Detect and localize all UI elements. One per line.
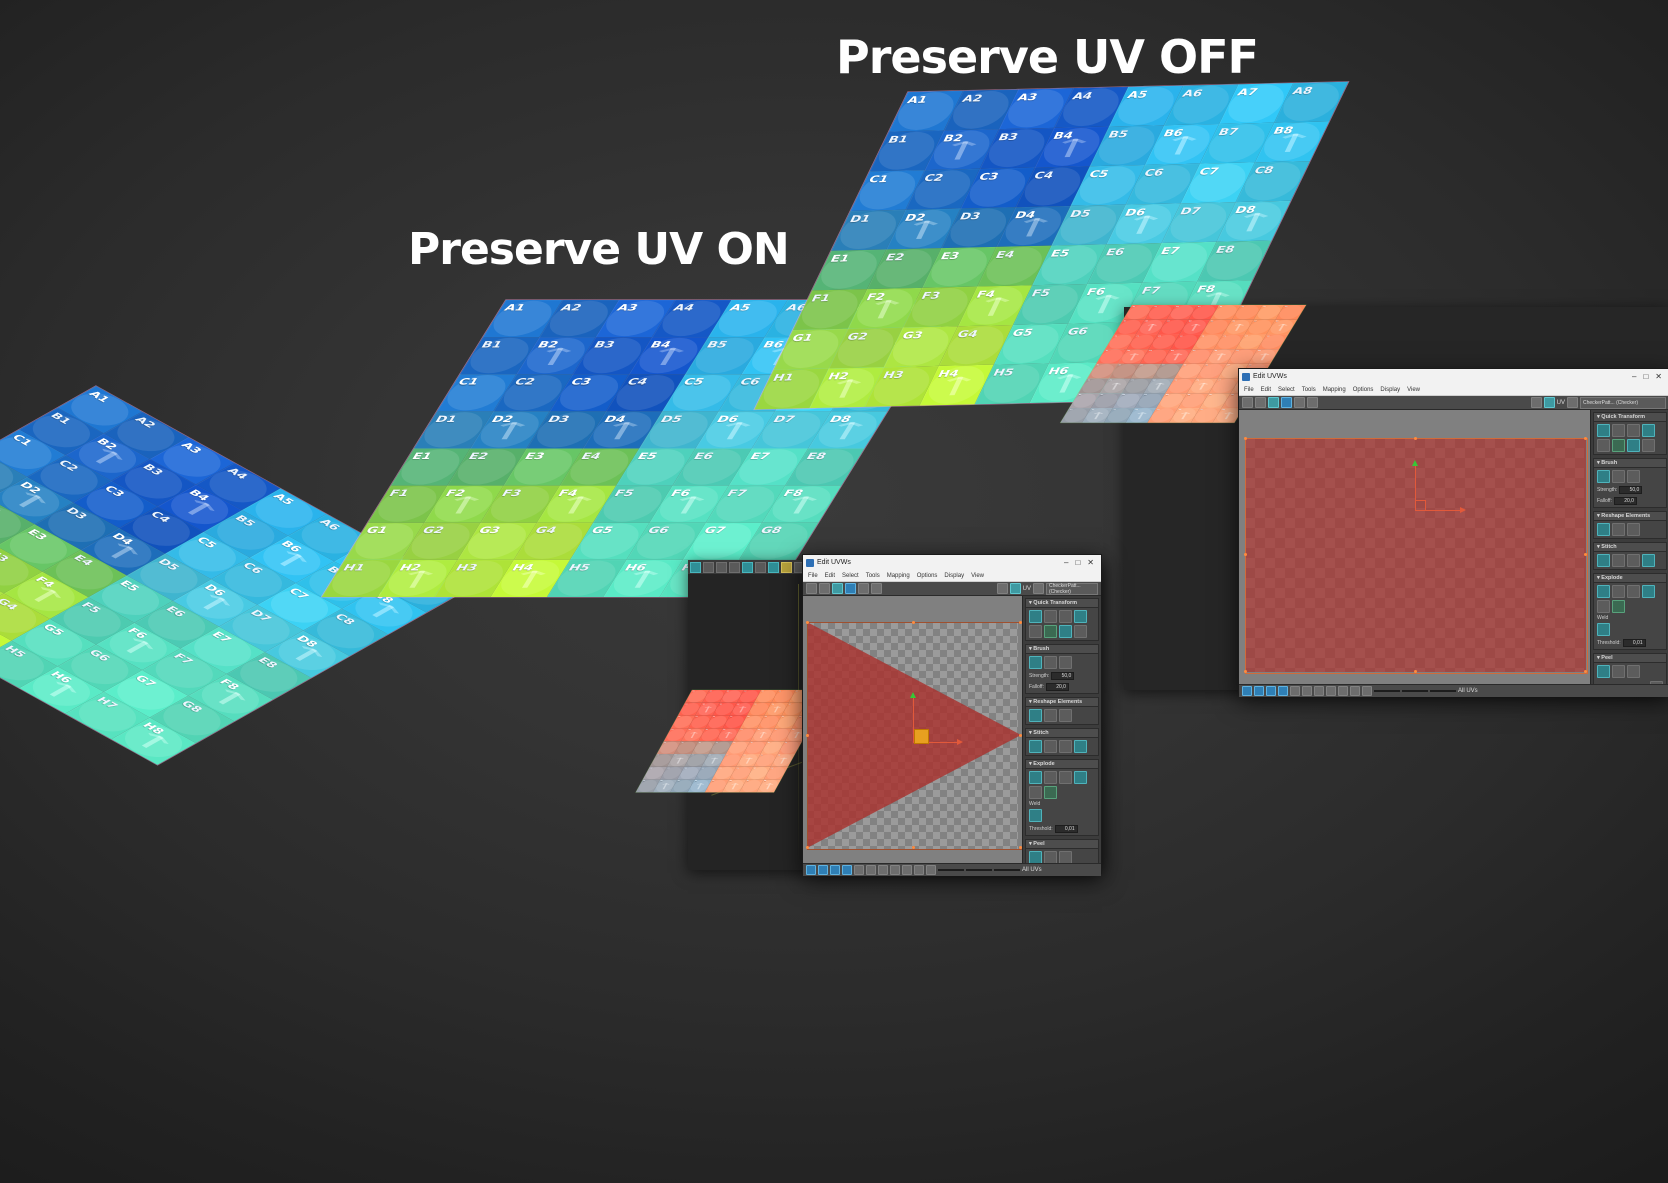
field-row: Threshold:0,01	[1597, 639, 1663, 647]
align-v-icon[interactable]	[1612, 424, 1625, 437]
weld-icon[interactable]	[1597, 623, 1610, 636]
gizmo-y-arrow-icon	[1412, 460, 1418, 466]
menu-edit[interactable]: Edit	[825, 573, 835, 579]
peel-mode-select[interactable]: Unfold▾	[1597, 684, 1648, 685]
rotate-ccw-icon[interactable]	[1029, 625, 1042, 638]
menu-view[interactable]: View	[1407, 387, 1420, 393]
rotate-ccw-icon[interactable]	[1597, 439, 1610, 452]
uv-canvas-front[interactable]	[803, 596, 1022, 863]
window-title: Edit UVWs	[817, 559, 851, 566]
command-panel-back[interactable]: ▾ Quick Transform▾ BrushStrength:50,0Fal…	[1590, 410, 1668, 684]
lock-icon[interactable]	[854, 865, 864, 875]
rotate-icon[interactable]	[716, 562, 727, 573]
command-panel-front[interactable]: ▾ Quick Transform▾ BrushStrength:50,0Fal…	[1022, 596, 1101, 863]
uvw-body-front: ▾ Quick Transform▾ BrushStrength:50,0Fal…	[803, 596, 1101, 863]
peel-mode-row: Unfold▾	[1597, 681, 1663, 684]
move-icon[interactable]	[1242, 397, 1253, 408]
menu-select[interactable]: Select	[842, 573, 859, 579]
gizmo-y-axis[interactable]	[1415, 465, 1416, 510]
move-icon[interactable]	[806, 583, 817, 594]
menu-mapping[interactable]: Mapping	[1323, 387, 1346, 393]
map-swatch-icon[interactable]	[1033, 583, 1044, 594]
break-face-icon[interactable]	[1059, 771, 1072, 784]
maximize-icon[interactable]: □	[1075, 559, 1080, 567]
relax-brush-icon[interactable]	[1612, 470, 1625, 483]
element-icon[interactable]	[1278, 686, 1288, 696]
uv-vertex[interactable]	[1244, 553, 1247, 556]
stitch-custom-icon[interactable]	[1074, 740, 1087, 753]
explode-all-icon[interactable]	[1044, 786, 1057, 799]
weld-icon[interactable]	[1029, 809, 1042, 822]
space-h-icon[interactable]	[1059, 610, 1072, 623]
field-label: Threshold:	[1029, 826, 1053, 832]
rollout-header[interactable]: ▾ Explode	[1594, 574, 1666, 583]
quick-peel-icon[interactable]	[1612, 665, 1625, 678]
rollout-brush[interactable]: ▾ BrushStrength:50,0Falloff:20,0	[1593, 458, 1667, 508]
paint-select-icon[interactable]	[1029, 656, 1042, 669]
field-value[interactable]: 50,0	[1619, 486, 1642, 494]
relax-icon[interactable]	[1059, 709, 1072, 722]
rollout-body: WeldThreshold:0,01	[1026, 769, 1098, 835]
minimize-icon[interactable]: –	[1064, 559, 1068, 567]
gizmo-xy-plane-handle[interactable]	[914, 729, 929, 744]
rotate-cw-icon[interactable]	[1612, 439, 1625, 452]
relax-brush-icon[interactable]	[1044, 656, 1057, 669]
rollout-stitch[interactable]: ▾ Stitch	[1593, 542, 1667, 570]
face-icon[interactable]	[830, 865, 840, 875]
rollout-body	[1026, 707, 1098, 724]
pan-icon[interactable]	[902, 865, 912, 875]
uv-channel-label: UV	[1557, 400, 1565, 406]
zoom-icon[interactable]	[1326, 686, 1336, 696]
uv-canvas-back[interactable]	[1239, 410, 1590, 684]
uv-tile-border	[1245, 438, 1588, 674]
uv-vertex[interactable]	[1414, 437, 1417, 440]
align-v-icon[interactable]	[1044, 610, 1057, 623]
uv-vertex[interactable]	[806, 734, 809, 737]
uv-grid-icon[interactable]	[997, 583, 1008, 594]
toolbar-right-group[interactable]: UV CheckerPatt... (Checker)	[1531, 397, 1666, 409]
rollout-brush[interactable]: ▾ BrushStrength:50,0Falloff:20,0	[1025, 644, 1099, 694]
titlebar-front[interactable]: Edit UVWs – □ ✕	[803, 555, 1101, 570]
menubar-back[interactable]: File Edit Select Tools Mapping Options D…	[1239, 384, 1668, 396]
stitch-vert-icon[interactable]	[1627, 554, 1640, 567]
flip-h-icon[interactable]	[1627, 439, 1640, 452]
title-preserve-uv-off: Preserve UV OFF	[836, 30, 1258, 84]
menu-select[interactable]: Select	[1278, 387, 1295, 393]
status-field[interactable]	[1374, 690, 1400, 692]
flip-v-icon[interactable]	[1074, 625, 1087, 638]
gizmo-xy-square[interactable]	[1425, 500, 1426, 510]
rollout-body	[1026, 608, 1098, 640]
detach-icon[interactable]	[1642, 585, 1655, 598]
vertex-icon[interactable]	[1242, 686, 1252, 696]
rollout-header[interactable]: ▾ Quick Transform	[1594, 413, 1666, 422]
menu-file[interactable]: File	[1244, 387, 1254, 393]
zoom-region-icon[interactable]	[1362, 686, 1372, 696]
uv-grid-icon[interactable]	[1531, 397, 1542, 408]
explode-icon[interactable]	[1029, 786, 1042, 799]
show-map-icon[interactable]	[871, 583, 882, 594]
field-label: Threshold:	[1597, 640, 1621, 646]
space-h-icon[interactable]	[1627, 424, 1640, 437]
rotate-cw-icon[interactable]	[1044, 625, 1057, 638]
field-label: Strength:	[1597, 487, 1617, 493]
rollout-header[interactable]: ▾ Brush	[1026, 645, 1098, 654]
scale-icon[interactable]	[729, 562, 740, 573]
field-value[interactable]: 0,01	[1055, 825, 1078, 833]
rollout-peel[interactable]: ▾ PeelUnfold▾DetachPack	[1025, 839, 1099, 863]
pan-icon[interactable]	[1338, 686, 1348, 696]
status-field[interactable]	[938, 869, 964, 871]
rollout-header[interactable]: ▾ Peel	[1594, 654, 1666, 663]
peel-settings-icon[interactable]	[1650, 681, 1663, 684]
status-bar-back[interactable]: All UVs	[1239, 684, 1668, 697]
zoom-extents-icon[interactable]	[914, 865, 924, 875]
title-preserve-uv-on: Preserve UV ON	[408, 224, 789, 275]
explode-all-icon[interactable]	[1612, 600, 1625, 613]
uv-vertex[interactable]	[1019, 734, 1022, 737]
edit-uvws-window-back[interactable]: Edit UVWs – □ ✕ File Edit Select Tools M…	[1238, 368, 1668, 695]
uv-vertex[interactable]	[1584, 437, 1587, 440]
field-row: Strength:50,0	[1597, 486, 1663, 494]
break-edge-icon[interactable]	[1044, 771, 1057, 784]
paint-select-icon[interactable]	[1597, 470, 1610, 483]
field-row: Falloff:20,0	[1597, 497, 1663, 505]
toolbar-back[interactable]: UV CheckerPatt... (Checker)	[1239, 396, 1668, 410]
align-h-icon[interactable]	[1029, 610, 1042, 623]
mirror-icon[interactable]	[858, 583, 869, 594]
peel-mode-icon[interactable]	[1627, 665, 1640, 678]
explode-icon[interactable]	[1597, 600, 1610, 613]
material-slot[interactable]: CheckerPatt... (Checker)	[1046, 583, 1098, 595]
status-field[interactable]	[966, 869, 992, 871]
gizmo-x-axis[interactable]	[1415, 510, 1460, 511]
uv-channel-label: UV	[1023, 586, 1031, 592]
stitch-icon[interactable]	[1029, 740, 1042, 753]
window-controls[interactable]: – □ ✕	[1632, 373, 1666, 381]
uv-vertex[interactable]	[806, 621, 809, 624]
menu-options[interactable]: Options	[1353, 387, 1374, 393]
field-value[interactable]: 20,0	[1046, 683, 1069, 691]
field-label: Falloff:	[1597, 498, 1612, 504]
status-field[interactable]	[1402, 690, 1428, 692]
weld-label: Weld	[1029, 801, 1095, 807]
peel-icon[interactable]	[1029, 851, 1042, 863]
space-v-icon[interactable]	[1074, 610, 1087, 623]
menu-edit[interactable]: Edit	[1261, 387, 1271, 393]
field-value[interactable]: 0,01	[1623, 639, 1646, 647]
rotate-icon[interactable]	[1255, 397, 1266, 408]
menu-tools[interactable]: Tools	[866, 573, 880, 579]
gizmo-x-arrow-icon	[957, 739, 963, 745]
menubar-front[interactable]: File Edit Select Tools Mapping Options D…	[803, 570, 1101, 582]
grid-icon[interactable]	[1302, 686, 1312, 696]
window-title: Edit UVWs	[1253, 373, 1287, 380]
detach-icon[interactable]	[1074, 771, 1087, 784]
toolbar-front[interactable]: UV CheckerPatt... (Checker)	[803, 582, 1101, 596]
quick-peel-icon[interactable]	[1044, 851, 1057, 863]
select-icon[interactable]	[690, 562, 701, 573]
rollout-header[interactable]: ▾ Brush	[1594, 459, 1666, 468]
edge-icon[interactable]	[818, 865, 828, 875]
rollout-body	[1594, 552, 1666, 569]
material-slot[interactable]: CheckerPatt... (Checker)	[1580, 397, 1666, 409]
field-label: Falloff:	[1029, 684, 1044, 690]
peel-mode-icon[interactable]	[1059, 851, 1072, 863]
rollout-peel[interactable]: ▾ PeelUnfold▾DetachPack	[1593, 653, 1667, 684]
maximize-icon[interactable]: □	[1643, 373, 1648, 381]
menu-options[interactable]: Options	[917, 573, 938, 579]
scene-background: Preserve UV OFF Preserve UV ON A1A2A3A4A…	[0, 0, 1668, 1183]
show-map-icon[interactable]	[1307, 397, 1318, 408]
uv-vertex[interactable]	[806, 846, 809, 849]
rollout-reshape-elements[interactable]: ▾ Reshape Elements	[1025, 697, 1099, 725]
uvw-body-back: ▾ Quick Transform▾ BrushStrength:50,0Fal…	[1239, 410, 1668, 684]
toolbar-right-group[interactable]: UV CheckerPatt... (Checker)	[997, 583, 1098, 595]
zoom-extents-icon[interactable]	[1350, 686, 1360, 696]
rollout-body	[1594, 521, 1666, 538]
rollout-quick-transform[interactable]: ▾ Quick Transform	[1025, 598, 1099, 641]
rollout-body	[1594, 422, 1666, 454]
rollout-header[interactable]: ▾ Explode	[1026, 760, 1098, 769]
field-label: Strength:	[1029, 673, 1049, 679]
mirror-icon[interactable]	[1294, 397, 1305, 408]
app-icon	[1242, 373, 1250, 381]
uv-vertex[interactable]	[912, 846, 915, 849]
rollout-header[interactable]: ▾ Quick Transform	[1026, 599, 1098, 608]
uv-vertex[interactable]	[1584, 553, 1587, 556]
app-icon	[806, 559, 814, 567]
field-row: Falloff:20,0	[1029, 683, 1095, 691]
flip-v-icon[interactable]	[1642, 439, 1655, 452]
rollout-body: Strength:50,0Falloff:20,0	[1594, 468, 1666, 507]
scale-icon[interactable]	[1268, 397, 1279, 408]
stitch-vert-icon[interactable]	[1059, 740, 1072, 753]
edge-icon[interactable]	[1254, 686, 1264, 696]
freeform-icon[interactable]	[845, 583, 856, 594]
gizmo-xy-square[interactable]	[1415, 500, 1425, 501]
snap-icon[interactable]	[878, 865, 888, 875]
uv-vertex[interactable]	[1019, 621, 1022, 624]
rollout-header[interactable]: ▾ Reshape Elements	[1594, 512, 1666, 521]
menu-tools[interactable]: Tools	[1302, 387, 1316, 393]
checker-map-icon[interactable]	[1010, 583, 1021, 594]
menu-file[interactable]: File	[808, 573, 818, 579]
rollout-body	[1026, 738, 1098, 755]
align-cluster-icon[interactable]	[1044, 709, 1057, 722]
field-value[interactable]: 20,0	[1614, 497, 1637, 505]
render-icon[interactable]	[781, 562, 792, 573]
rollout-body: Unfold▾DetachPack	[1026, 849, 1098, 863]
gizmo-x-arrow-icon	[1460, 507, 1466, 513]
zoom-icon[interactable]	[890, 865, 900, 875]
straighten-icon[interactable]	[1597, 523, 1610, 536]
uv-vertex[interactable]	[912, 621, 915, 624]
menu-view[interactable]: View	[971, 573, 984, 579]
zoom-region-icon[interactable]	[926, 865, 936, 875]
rollout-header[interactable]: ▾ Stitch	[1026, 729, 1098, 738]
rollout-explode[interactable]: ▾ ExplodeWeldThreshold:0,01	[1593, 573, 1667, 650]
break-edge-icon[interactable]	[1612, 585, 1625, 598]
falloff-curve-icon[interactable]	[1059, 656, 1072, 669]
map-swatch-icon[interactable]	[1567, 397, 1578, 408]
status-unit-label: All UVs	[1458, 688, 1478, 694]
peel-icon[interactable]	[1597, 665, 1610, 678]
rollout-quick-transform[interactable]: ▾ Quick Transform	[1593, 412, 1667, 455]
straighten-icon[interactable]	[1029, 709, 1042, 722]
titlebar-back[interactable]: Edit UVWs – □ ✕	[1239, 369, 1668, 384]
menu-display[interactable]: Display	[1380, 387, 1400, 393]
break-icon[interactable]	[1597, 585, 1610, 598]
grid-icon[interactable]	[866, 865, 876, 875]
stitch-horiz-icon[interactable]	[1612, 554, 1625, 567]
rollout-explode[interactable]: ▾ ExplodeWeldThreshold:0,01	[1025, 759, 1099, 836]
break-face-icon[interactable]	[1627, 585, 1640, 598]
close-icon[interactable]: ✕	[1087, 559, 1094, 567]
minimize-icon[interactable]: –	[1632, 373, 1636, 381]
rollout-body: WeldThreshold:0,01	[1594, 583, 1666, 649]
rollout-header[interactable]: ▾ Peel	[1026, 840, 1098, 849]
flip-h-icon[interactable]	[1059, 625, 1072, 638]
edit-uvws-window-front[interactable]: Edit UVWs – □ ✕ File Edit Select Tools M…	[802, 554, 1102, 874]
rollout-header[interactable]: ▾ Reshape Elements	[1026, 698, 1098, 707]
element-icon[interactable]	[842, 865, 852, 875]
rotate-icon[interactable]	[819, 583, 830, 594]
relax-icon[interactable]	[1627, 523, 1640, 536]
menu-mapping[interactable]: Mapping	[887, 573, 910, 579]
align-h-icon[interactable]	[1597, 424, 1610, 437]
align-cluster-icon[interactable]	[1612, 523, 1625, 536]
break-icon[interactable]	[1029, 771, 1042, 784]
window-controls[interactable]: – □ ✕	[1064, 559, 1098, 567]
stitch-icon[interactable]	[1597, 554, 1610, 567]
status-unit-label: All UVs	[1022, 867, 1042, 873]
snap-icon[interactable]	[1314, 686, 1324, 696]
freeform-icon[interactable]	[1281, 397, 1292, 408]
mirror-icon[interactable]	[755, 562, 766, 573]
checker-map-icon[interactable]	[1544, 397, 1555, 408]
falloff-curve-icon[interactable]	[1627, 470, 1640, 483]
menu-display[interactable]: Display	[944, 573, 964, 579]
uv-vertex[interactable]	[1244, 670, 1247, 673]
snap-icon[interactable]	[742, 562, 753, 573]
status-field[interactable]	[994, 869, 1020, 871]
lock-icon[interactable]	[1290, 686, 1300, 696]
uv-vertex[interactable]	[1584, 670, 1587, 673]
close-icon[interactable]: ✕	[1655, 373, 1662, 381]
field-value[interactable]: 50,0	[1051, 672, 1074, 680]
uv-vertex[interactable]	[1244, 437, 1247, 440]
rollout-body: Unfold▾DetachPack	[1594, 663, 1666, 684]
field-row: Threshold:0,01	[1029, 825, 1095, 833]
uv-vertex[interactable]	[1414, 670, 1417, 673]
uv-vertex[interactable]	[1019, 846, 1022, 849]
status-bar-front[interactable]: All UVs	[803, 863, 1101, 876]
status-field[interactable]	[1430, 690, 1456, 692]
space-v-icon[interactable]	[1642, 424, 1655, 437]
face-icon[interactable]	[1266, 686, 1276, 696]
vertex-icon[interactable]	[806, 865, 816, 875]
field-row: Strength:50,0	[1029, 672, 1095, 680]
stitch-horiz-icon[interactable]	[1044, 740, 1057, 753]
gizmo-y-arrow-icon	[910, 692, 916, 698]
move-icon[interactable]	[703, 562, 714, 573]
scale-icon[interactable]	[832, 583, 843, 594]
weld-label: Weld	[1597, 615, 1663, 621]
rollout-header[interactable]: ▾ Stitch	[1594, 543, 1666, 552]
rollout-stitch[interactable]: ▾ Stitch	[1025, 728, 1099, 756]
align-icon[interactable]	[768, 562, 779, 573]
rollout-reshape-elements[interactable]: ▾ Reshape Elements	[1593, 511, 1667, 539]
stitch-custom-icon[interactable]	[1642, 554, 1655, 567]
rollout-body: Strength:50,0Falloff:20,0	[1026, 654, 1098, 693]
